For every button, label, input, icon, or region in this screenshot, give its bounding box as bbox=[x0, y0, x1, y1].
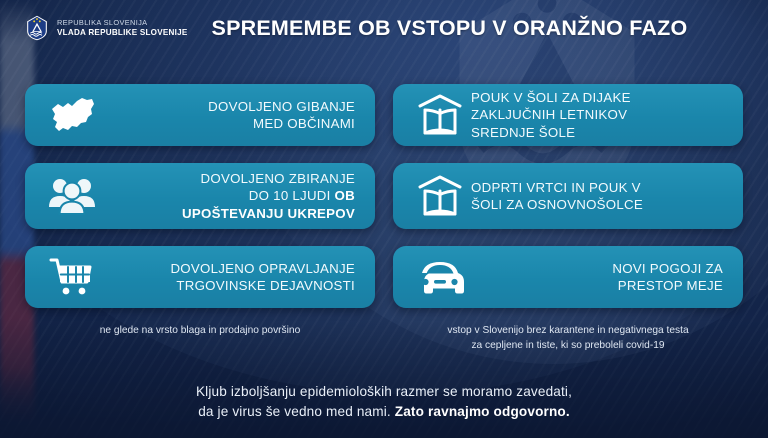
card-kindergartens-and-primary-school[interactable]: ODPRTI VRTCI IN POUK V ŠOLI ZA OSNOVNOŠO… bbox=[393, 163, 743, 229]
card-line-1: DOVOLJENO GIBANJE bbox=[208, 99, 355, 114]
card-line-1: DOVOLJENO ZBIRANJE bbox=[201, 171, 356, 186]
card-label: POUK V ŠOLI ZA DIJAKE ZAKLJUČNIH LETNIKO… bbox=[471, 89, 729, 141]
header: REPUBLIKA SLOVENIJA VLADA REPUBLIKE SLOV… bbox=[0, 0, 768, 56]
card-line-2: ZAKLJUČNIH LETNIKOV bbox=[471, 107, 627, 122]
card-line-3-bold: UPOŠTEVANJU UKREPOV bbox=[182, 206, 355, 221]
card-line-2: MED OBČINAMI bbox=[253, 116, 355, 131]
logo-line-government: VLADA REPUBLIKE SLOVENIJE bbox=[57, 28, 188, 38]
card-line-1: NOVI POGOJI ZA bbox=[612, 261, 723, 276]
left-card-column: DOVOLJENO GIBANJE MED OBČINAMI DOVOLJENO… bbox=[25, 84, 375, 325]
footnote-right-line-2: za cepljene in tiste, ki so preboleli co… bbox=[471, 340, 664, 351]
card-label: ODPRTI VRTCI IN POUK V ŠOLI ZA OSNOVNOŠO… bbox=[471, 179, 729, 214]
slovenian-coat-of-arms-icon bbox=[26, 15, 48, 41]
bottom-line-2-bold: Zato ravnajmo odgovorno. bbox=[395, 404, 570, 419]
card-line-2: ŠOLI ZA OSNOVNOŠOLCE bbox=[471, 197, 643, 212]
footnote-right-line-1: vstop v Slovenijo brez karantene in nega… bbox=[447, 325, 688, 336]
card-line-3: SREDNJE ŠOLE bbox=[471, 125, 575, 140]
infographic-root: REPUBLIKA SLOVENIJA VLADA REPUBLIKE SLOV… bbox=[0, 0, 768, 438]
card-movement-between-municipalities[interactable]: DOVOLJENO GIBANJE MED OBČINAMI bbox=[25, 84, 375, 146]
footnote-retail: ne glede na vrsto blaga in prodajno povr… bbox=[25, 324, 375, 339]
card-line-1: ODPRTI VRTCI IN POUK V bbox=[471, 180, 641, 195]
card-school-final-year-students[interactable]: POUK V ŠOLI ZA DIJAKE ZAKLJUČNIH LETNIKO… bbox=[393, 84, 743, 146]
card-label: DOVOLJENO GIBANJE MED OBČINAMI bbox=[103, 98, 361, 133]
page-title: SPREMEMBE OB VSTOPU V ORANŽNO FAZO bbox=[212, 16, 688, 41]
card-gathering-up-to-10-people[interactable]: DOVOLJENO ZBIRANJE DO 10 LJUDI OB UPOŠTE… bbox=[25, 163, 375, 229]
school-book-icon bbox=[409, 93, 471, 137]
card-border-crossing-conditions[interactable]: NOVI POGOJI ZA PRESTOP MEJE bbox=[393, 246, 743, 308]
card-line-1: POUK V ŠOLI ZA DIJAKE bbox=[471, 90, 631, 105]
group-of-people-icon bbox=[41, 175, 103, 217]
slovenia-map-icon bbox=[41, 93, 103, 137]
card-label: DOVOLJENO OPRAVLJANJE TRGOVINSKE DEJAVNO… bbox=[103, 260, 361, 295]
card-line-1: DOVOLJENO OPRAVLJANJE bbox=[170, 261, 355, 276]
school-book-icon bbox=[409, 174, 471, 218]
shopping-cart-icon bbox=[41, 255, 103, 299]
logo-text-block: REPUBLIKA SLOVENIJA VLADA REPUBLIKE SLOV… bbox=[57, 19, 188, 37]
card-retail-activity-allowed[interactable]: DOVOLJENO OPRAVLJANJE TRGOVINSKE DEJAVNO… bbox=[25, 246, 375, 308]
government-logo: REPUBLIKA SLOVENIJA VLADA REPUBLIKE SLOV… bbox=[26, 15, 188, 41]
card-line-2-bold: OB bbox=[335, 188, 355, 203]
footnote-left-text: ne glede na vrsto blaga in prodajno povr… bbox=[100, 325, 301, 336]
card-label: NOVI POGOJI ZA PRESTOP MEJE bbox=[471, 260, 729, 295]
bottom-line-1: Kljub izboljšanju epidemioloških razmer … bbox=[196, 384, 572, 399]
card-line-2: PRESTOP MEJE bbox=[618, 278, 723, 293]
car-icon bbox=[409, 257, 471, 297]
card-line-2: DO 10 LJUDI bbox=[249, 188, 335, 203]
right-card-column: POUK V ŠOLI ZA DIJAKE ZAKLJUČNIH LETNIKO… bbox=[393, 84, 743, 325]
footnote-border: vstop v Slovenijo brez karantene in nega… bbox=[393, 324, 743, 354]
card-line-2: TRGOVINSKE DEJAVNOSTI bbox=[176, 278, 355, 293]
bottom-message: Kljub izboljšanju epidemioloških razmer … bbox=[0, 382, 768, 421]
bottom-line-2-normal: da je virus še vedno med nami. bbox=[198, 404, 395, 419]
logo-line-republic: REPUBLIKA SLOVENIJA bbox=[57, 19, 188, 28]
card-label: DOVOLJENO ZBIRANJE DO 10 LJUDI OB UPOŠTE… bbox=[103, 170, 361, 222]
